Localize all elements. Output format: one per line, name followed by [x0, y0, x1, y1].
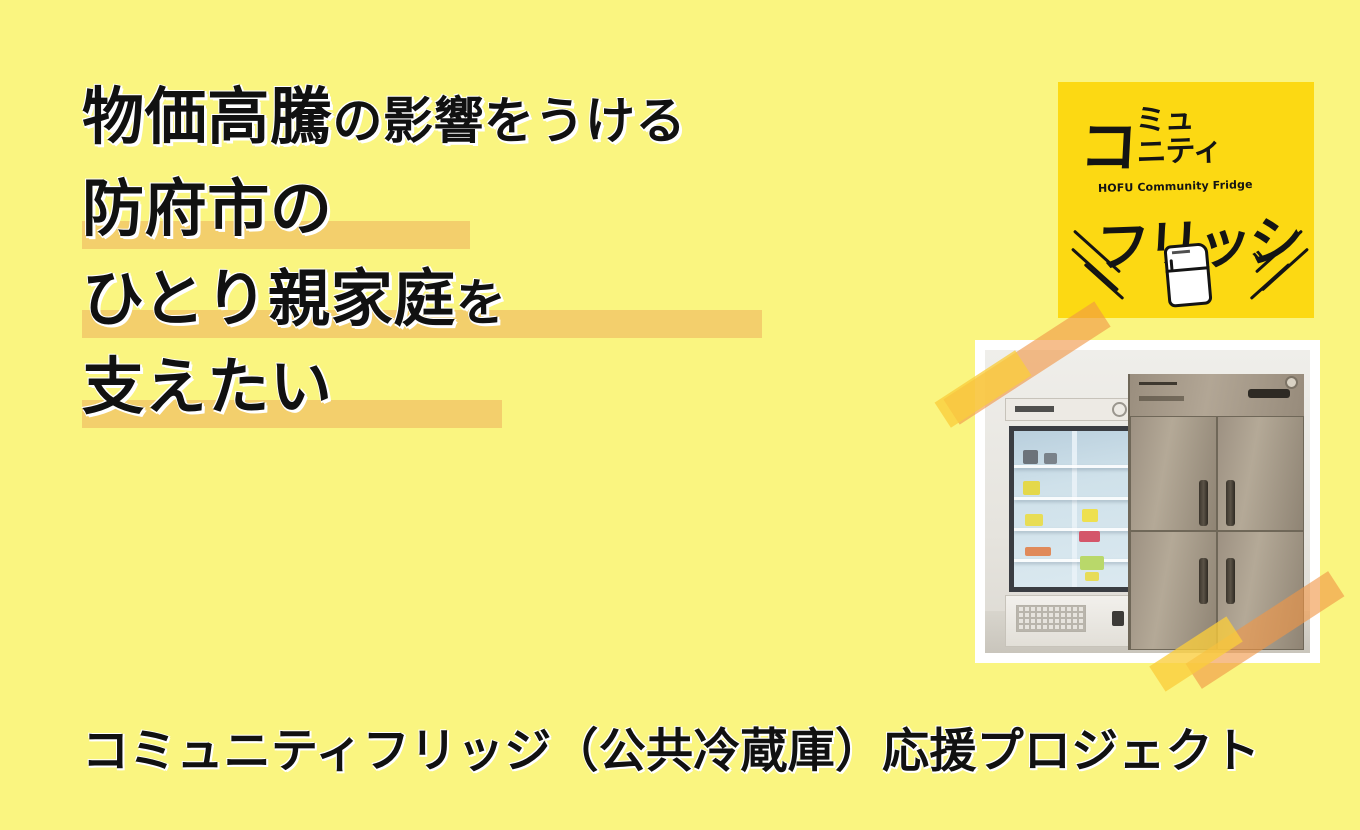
fridge-icon — [1163, 242, 1212, 308]
fridge-top-housing — [1130, 374, 1304, 417]
cooler-shelf — [1014, 465, 1132, 468]
cooler-shelf — [1014, 528, 1132, 531]
headline-line-4-text: 支えたい — [82, 356, 332, 418]
cooler-item — [1082, 509, 1097, 522]
cooler-shelf — [1014, 497, 1132, 500]
cooler-item — [1025, 547, 1051, 556]
logo-inner: コ ミュ ニティ HOFU Community Fridge フリッシ ゛ — [1058, 82, 1314, 318]
logo-kana-row-1: ミュ — [1135, 103, 1221, 137]
cooler-item — [1079, 531, 1100, 542]
cooler-vent-grille — [1016, 605, 1086, 633]
headline-line-4: 支えたい — [82, 356, 942, 418]
fridge-handle — [1226, 480, 1235, 526]
fridge-door-top-right — [1217, 416, 1304, 532]
logo-subtitle-en: HOFU Community Fridge — [1098, 178, 1253, 195]
photo-block — [975, 340, 1320, 663]
headline-line-3: ひとり親家庭を — [82, 268, 942, 330]
fridge-indicator-light — [1285, 376, 1298, 389]
cooler-item — [1085, 572, 1099, 581]
cooler-control-box — [1112, 611, 1124, 626]
headline-block: 物価高騰の影響をうける 防府市の ひとり親家庭を 支えたい — [82, 86, 942, 418]
logo-text-kana: ミュ ニティ — [1135, 103, 1222, 169]
headline-line-1: 物価高騰の影響をうける — [82, 86, 942, 148]
cooler-door-mullion — [1072, 431, 1077, 587]
fridge-handle — [1199, 558, 1208, 604]
headline-line-3-main: ひとり親家庭 — [82, 268, 456, 330]
cooler-brand-plate — [1015, 406, 1053, 412]
cooler-item — [1025, 514, 1043, 527]
fridge-door-top-left — [1130, 416, 1217, 532]
tagline: コミュニティフリッジ（公共冷蔵庫）応援プロジェクト — [82, 712, 1260, 781]
fridge-model-plate — [1139, 396, 1184, 401]
cooler-base-unit — [1005, 595, 1142, 647]
glass-display-cooler — [1005, 398, 1142, 646]
cooler-shelf — [1014, 559, 1132, 562]
headline-line-1-tail: の影響をうける — [332, 96, 686, 146]
cooler-item — [1044, 453, 1057, 464]
headline-line-1-main: 物価高騰 — [82, 86, 332, 148]
poster-canvas: 物価高騰の影響をうける 防府市の ひとり親家庭を 支えたい コミュニティフリッジ… — [0, 0, 1360, 830]
cooler-glass-doors — [1009, 426, 1137, 592]
cooler-item — [1023, 481, 1040, 495]
fridge-handle — [1226, 558, 1235, 604]
cooler-item — [1080, 556, 1104, 570]
fridge-control-panel — [1248, 389, 1290, 398]
cooler-item — [1023, 450, 1038, 464]
headline-line-2-text: 防府市の — [82, 178, 332, 240]
logo-badge: コ ミュ ニティ HOFU Community Fridge フリッシ ゛ — [1058, 82, 1314, 318]
photo-image-fridges — [985, 350, 1310, 653]
logo-text-ko: コ — [1078, 100, 1138, 184]
fridge-brand-plate — [1139, 382, 1177, 386]
headline-line-3-tail: を — [456, 278, 507, 328]
headline-line-2: 防府市の — [82, 178, 942, 240]
logo-kana-row-2: ニティ — [1136, 134, 1222, 168]
fridge-handle — [1199, 480, 1208, 526]
